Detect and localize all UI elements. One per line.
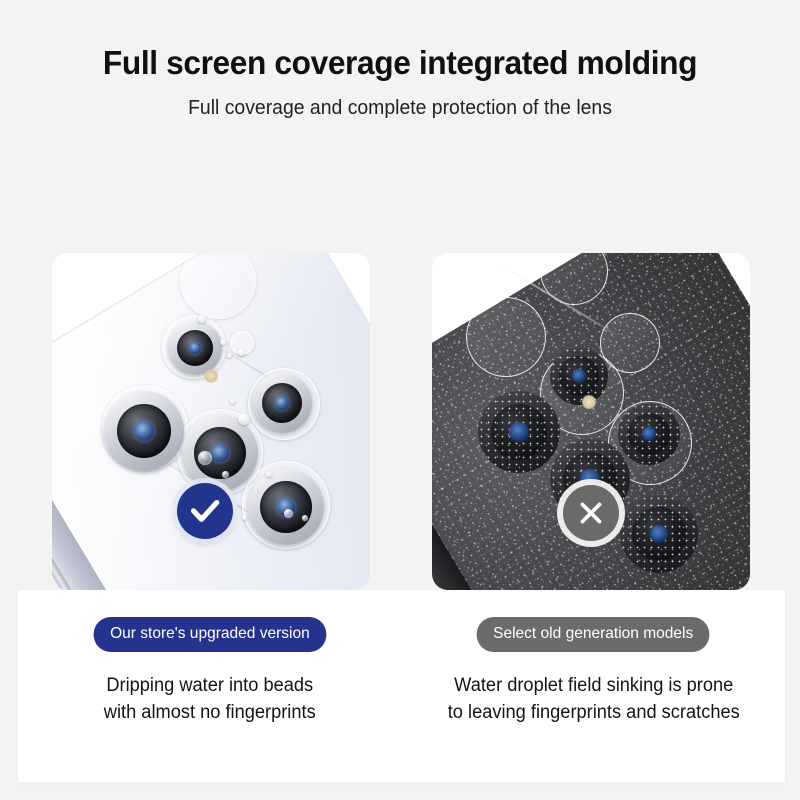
lens-pupil: [509, 422, 529, 442]
camera-lens: [182, 415, 258, 491]
comparison-captions-card: Our store's upgraded version Dripping wa…: [18, 590, 785, 782]
caption-column-bad: Select old generation models Water dropl…: [402, 590, 786, 782]
camera-lens: [620, 495, 698, 573]
camera-lens: [248, 469, 324, 545]
caption-bad-line1: Water droplet field sinking is prone: [409, 673, 777, 700]
caption-bad-line2: to leaving fingerprints and scratches: [409, 700, 777, 727]
water-bead: [220, 339, 226, 345]
camera-lens: [550, 347, 608, 405]
water-bead: [284, 509, 293, 518]
camera-lens: [478, 391, 560, 473]
lens-pupil: [134, 421, 153, 440]
badge-good: Our store's upgraded version: [93, 617, 326, 652]
check-icon: [177, 483, 233, 539]
water-bead: [198, 451, 212, 465]
camera-lens: [168, 321, 222, 375]
comparison-photos: [0, 253, 800, 590]
header: Full screen coverage integrated molding …: [0, 44, 800, 120]
lens-pupil: [211, 444, 229, 462]
badge-bad: Select old generation models: [477, 617, 710, 652]
camera-lens: [104, 391, 184, 471]
water-bead: [238, 349, 245, 356]
water-bead: [238, 413, 250, 425]
water-bead: [230, 399, 235, 404]
flash-sensor: [582, 395, 596, 409]
lens-pupil: [572, 369, 586, 383]
water-bead: [266, 471, 272, 477]
caption-good: Dripping water into beads with almost no…: [26, 673, 394, 727]
photo-good: [52, 253, 370, 590]
camera-lens: [252, 373, 312, 433]
caption-good-line2: with almost no fingerprints: [26, 700, 394, 727]
page-subtitle: Full coverage and complete protection of…: [12, 97, 788, 120]
loose-glass-disc: [466, 297, 546, 377]
photo-good-scene: [52, 253, 370, 590]
caption-column-good: Our store's upgraded version Dripping wa…: [18, 590, 402, 782]
product-comparison-page: Full screen coverage integrated molding …: [0, 0, 800, 800]
caption-bad: Water droplet field sinking is prone to …: [409, 673, 777, 727]
page-title: Full screen coverage integrated molding: [16, 44, 784, 83]
camera-lens: [618, 403, 680, 465]
water-bead: [227, 353, 232, 358]
water-bead: [222, 471, 229, 478]
flash-sensor: [204, 369, 218, 383]
water-bead: [302, 515, 308, 521]
water-bead: [242, 515, 247, 520]
water-bead: [198, 315, 206, 323]
cross-icon: [563, 485, 619, 541]
caption-good-line1: Dripping water into beads: [26, 673, 394, 700]
